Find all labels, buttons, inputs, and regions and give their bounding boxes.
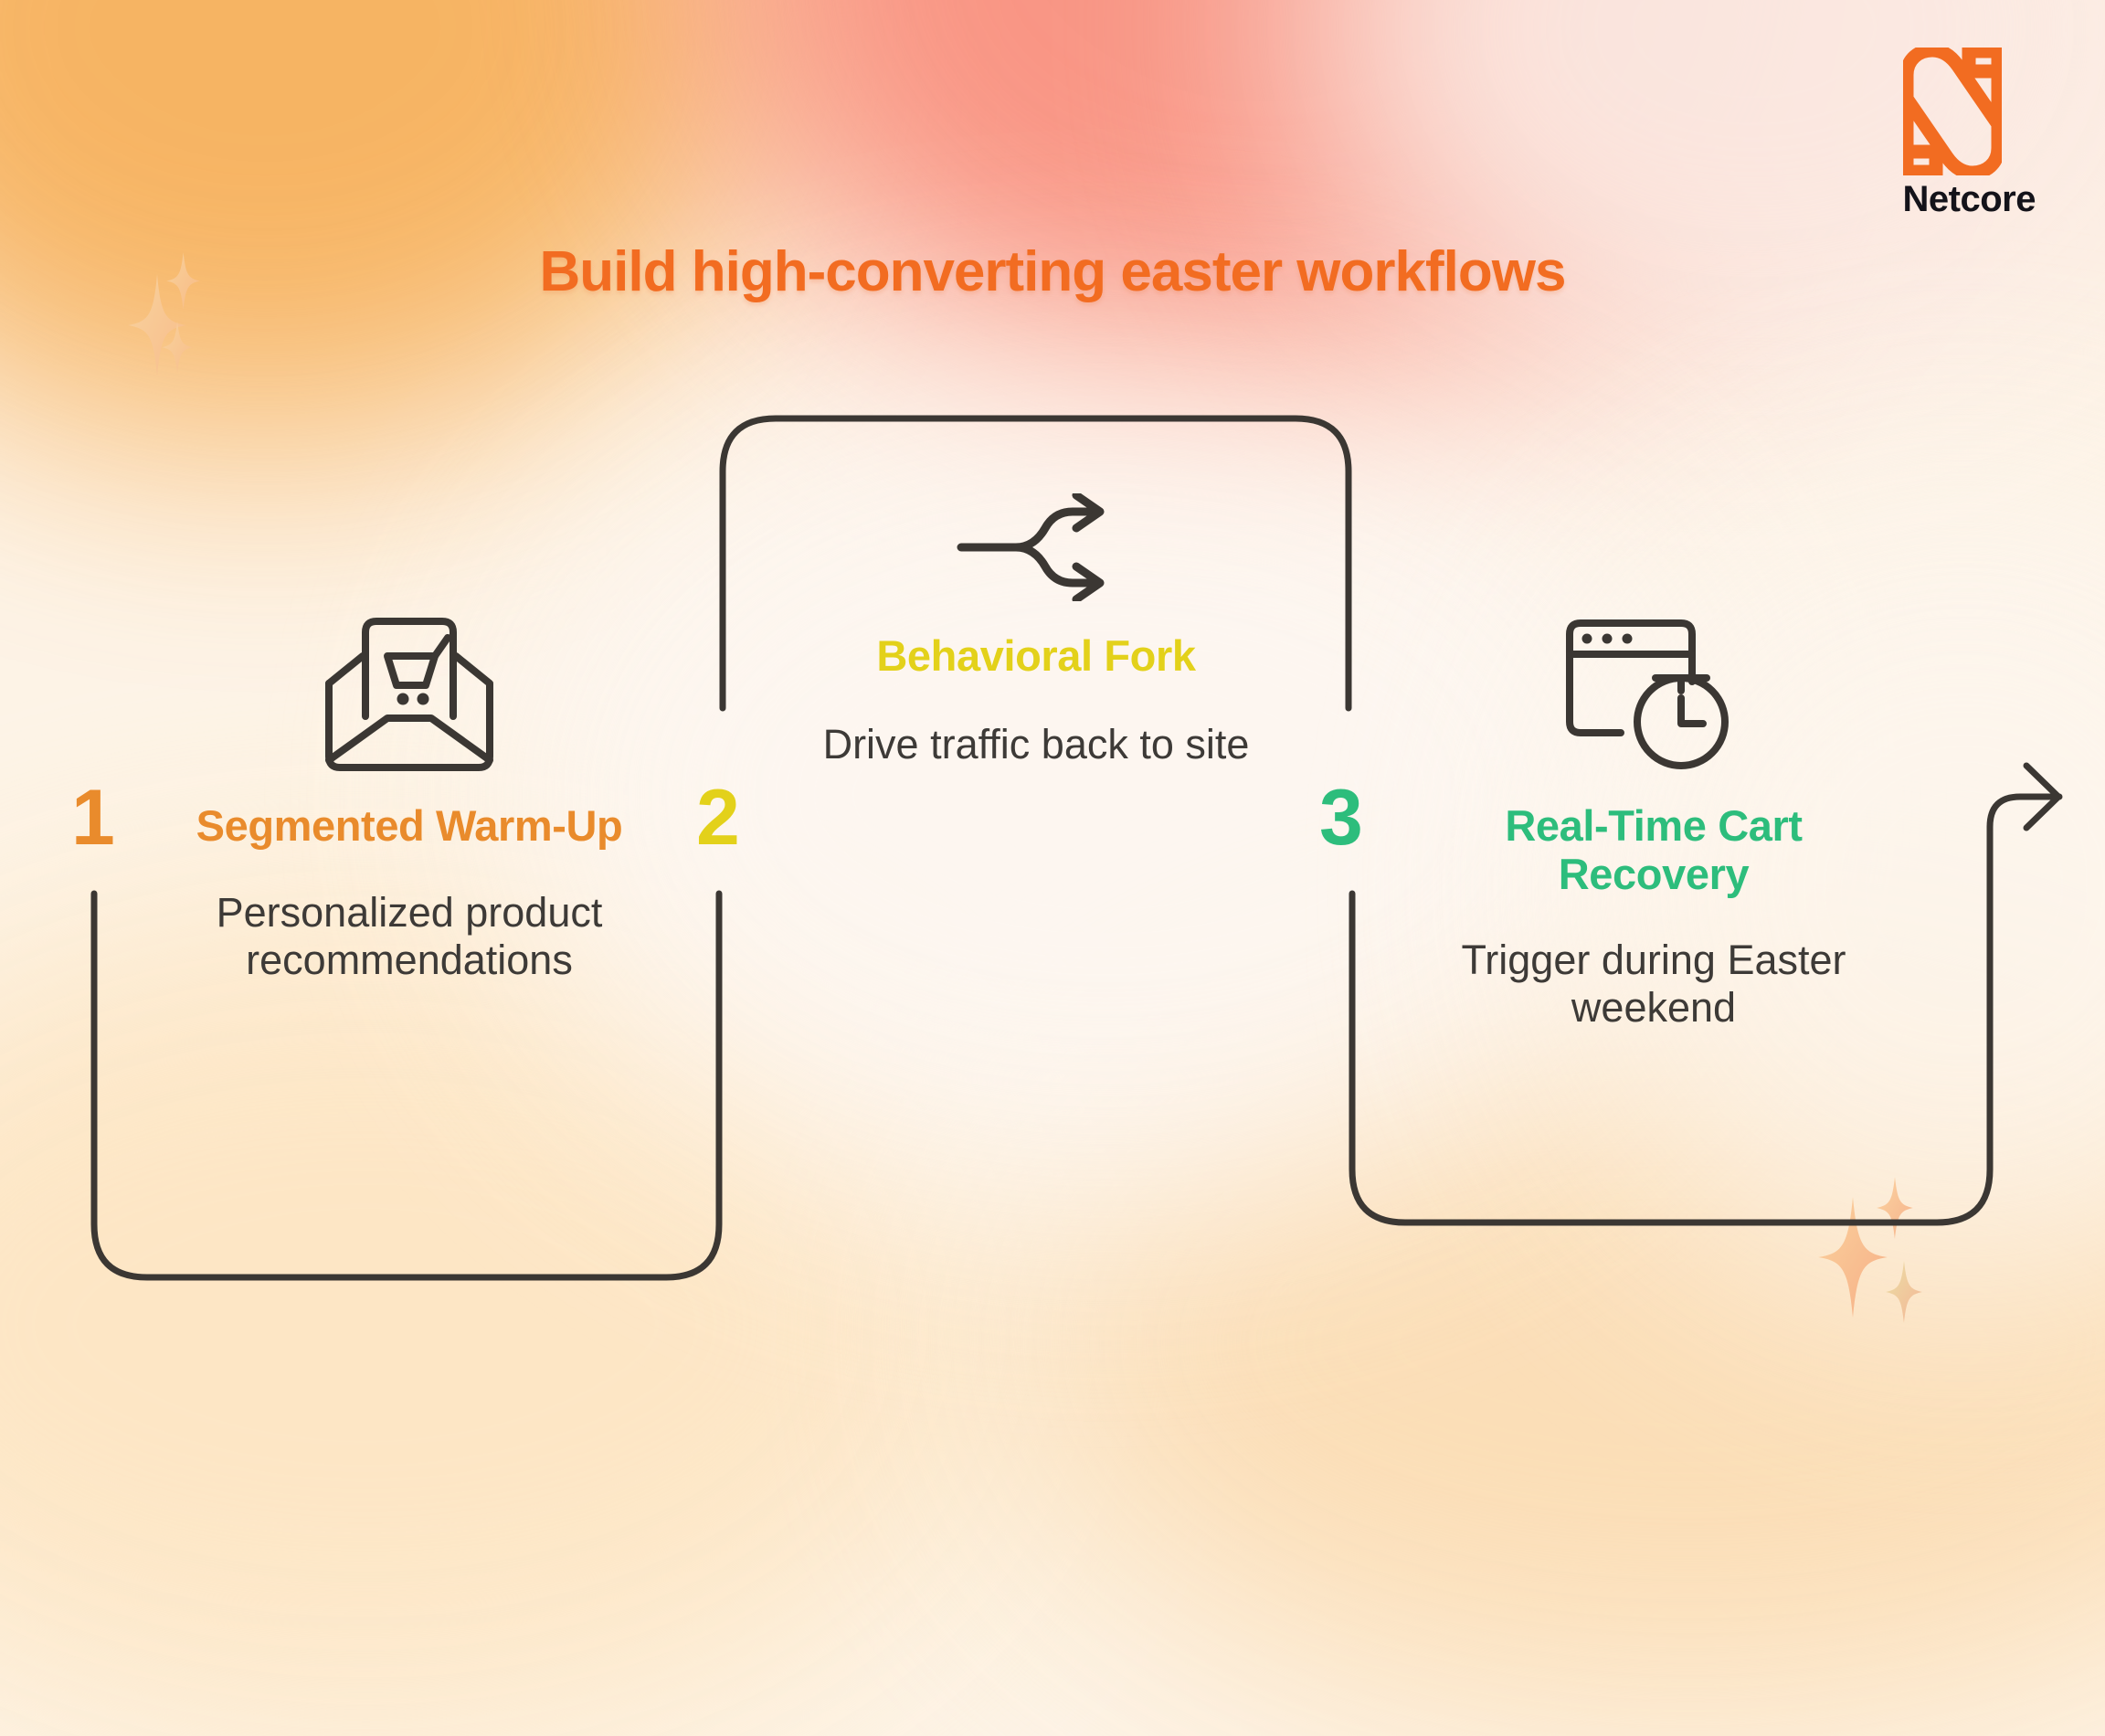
step-card-2: Behavioral Fork Drive traffic back to si… bbox=[800, 493, 1272, 768]
step-2-description: Drive traffic back to site bbox=[800, 721, 1272, 768]
envelope-with-shopping-cart-icon bbox=[320, 614, 499, 775]
step-1-description: Personalized product recommendations bbox=[174, 889, 645, 984]
browser-window-with-stopwatch-icon bbox=[1564, 614, 1743, 775]
step-card-1: Segmented Warm-Up Personalized product r… bbox=[174, 614, 645, 984]
netcore-n-logo-icon bbox=[1903, 48, 2002, 175]
step-2-heading: Behavioral Fork bbox=[800, 632, 1272, 681]
step-2-icon-wrapper bbox=[800, 493, 1272, 601]
netcore-logo: Netcore bbox=[1903, 48, 2036, 217]
step-3-heading: Real-Time Cart Recovery bbox=[1418, 802, 1889, 898]
bracket-step-3-exit bbox=[1990, 797, 2059, 827]
step-3-description: Trigger during Easter weekend bbox=[1418, 937, 1889, 1032]
step-number-1: 1 bbox=[71, 778, 115, 857]
step-number-2: 2 bbox=[696, 778, 740, 857]
step-1-icon-wrapper bbox=[174, 614, 645, 775]
step-card-3: Real-Time Cart Recovery Trigger during E… bbox=[1418, 614, 1889, 1032]
page-title: Build high-converting easter workflows bbox=[0, 239, 2105, 304]
step-number-3: 3 bbox=[1319, 778, 1363, 857]
step-3-icon-wrapper bbox=[1418, 614, 1889, 775]
step-1-heading: Segmented Warm-Up bbox=[174, 802, 645, 851]
branching-fork-arrows-icon bbox=[956, 493, 1116, 601]
netcore-wordmark: Netcore bbox=[1903, 181, 2036, 217]
